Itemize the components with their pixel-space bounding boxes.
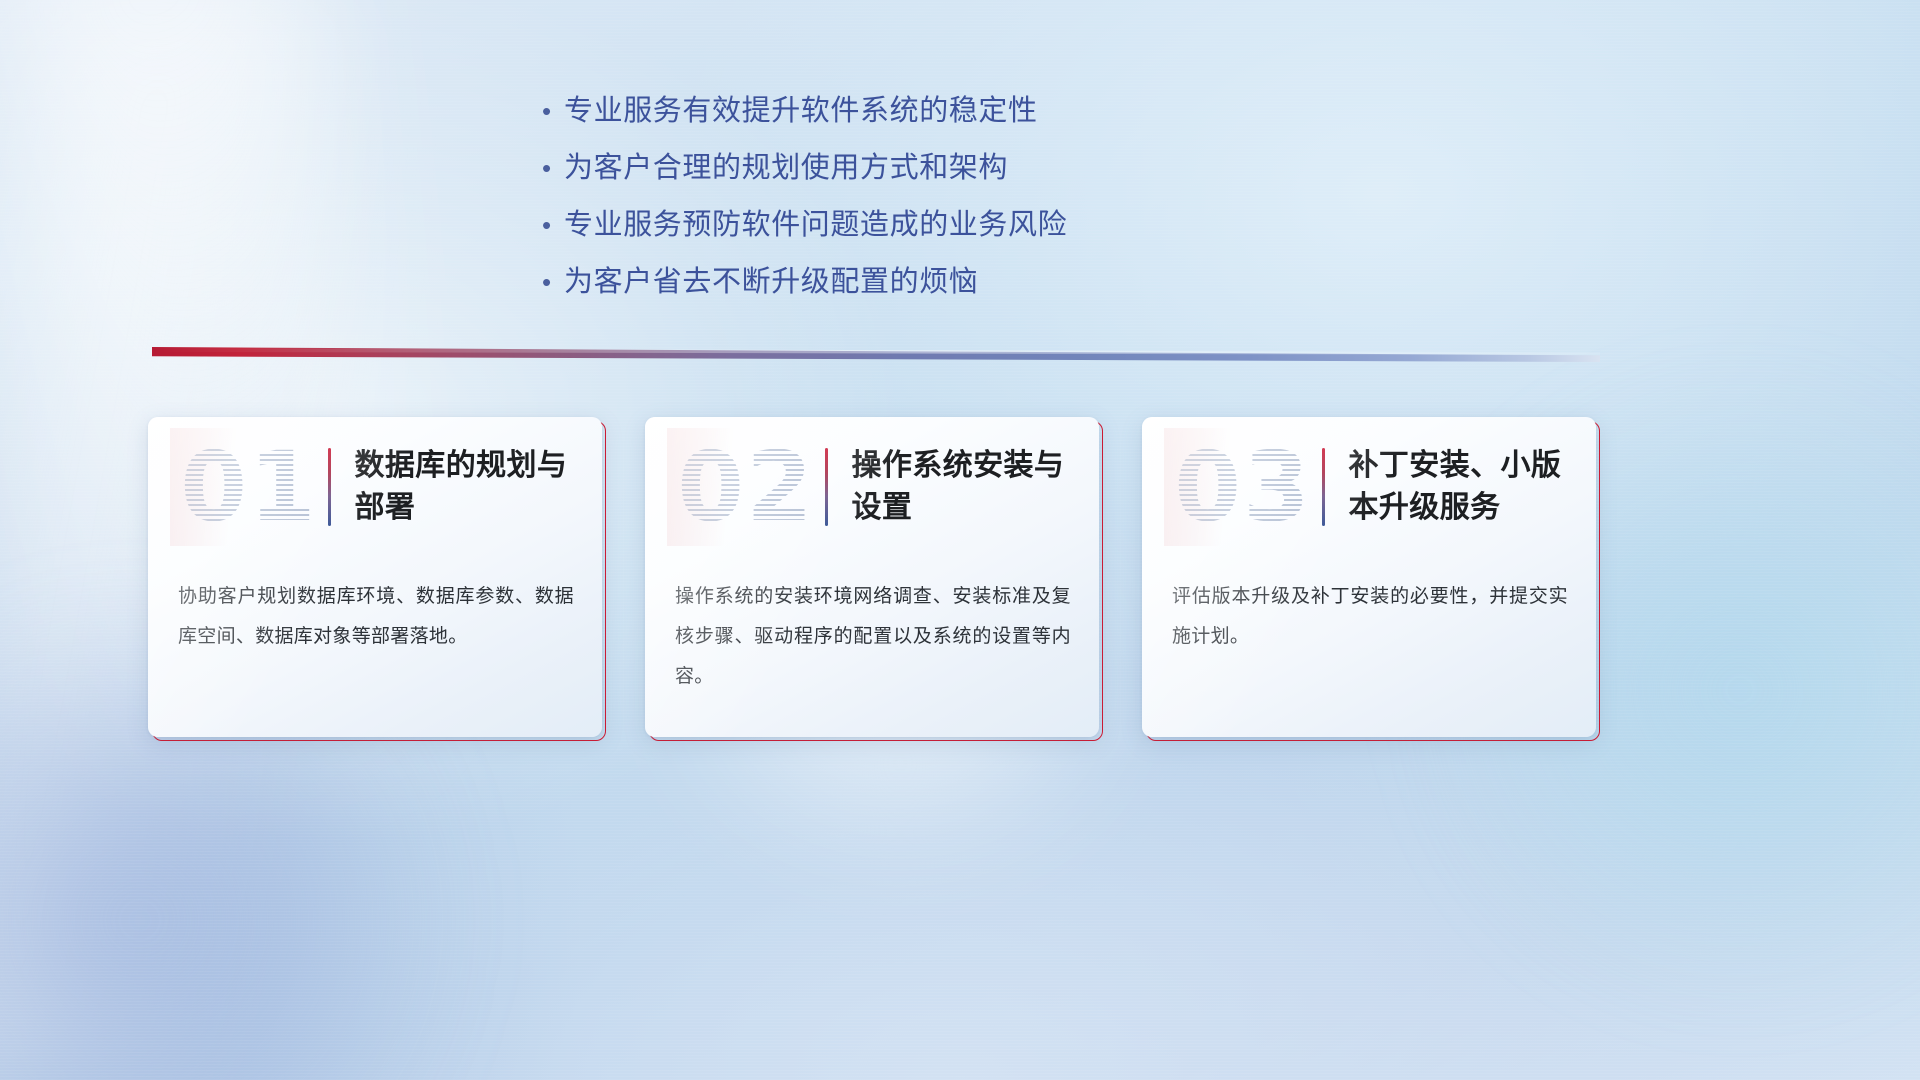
card-title: 操作系统安装与设置	[852, 445, 1100, 529]
bullet-label: 为客户省去不断升级配置的烦恼	[564, 263, 978, 301]
list-item: • 为客户省去不断升级配置的烦恼	[536, 263, 1176, 301]
card-description: 操作系统的安装环境网络调查、安装标准及复核步骤、驱动程序的配置以及系统的设置等内…	[675, 577, 1071, 697]
card-description: 评估版本升级及补丁安装的必要性，并提交实施计划。	[1172, 577, 1568, 657]
card-title: 数据库的规划与部署	[355, 445, 603, 529]
card-surface: 03 补丁安装、小版本升级服务 评估版本升级及补丁安装的必要性，并提交实施计划。	[1142, 417, 1596, 737]
card-description: 协助客户规划数据库环境、数据库参数、数据库空间、数据库对象等部署落地。	[178, 577, 574, 657]
bullet-dot-icon: •	[536, 263, 564, 301]
bullet-label: 专业服务有效提升软件系统的稳定性	[564, 92, 1038, 130]
card-number-label: 02	[677, 428, 815, 546]
card-number-watermark: 03	[1164, 428, 1322, 546]
service-card[interactable]: 02 操作系统安装与设置 操作系统的安装环境网络调查、安装标准及复核步骤、驱动程…	[649, 421, 1103, 741]
card-header: 02 操作系统安装与设置	[645, 417, 1099, 557]
bullet-dot-icon: •	[536, 92, 564, 130]
list-item: • 为客户合理的规划使用方式和架构	[536, 149, 1176, 187]
card-number-label: 01	[180, 428, 318, 546]
bullet-dot-icon: •	[536, 149, 564, 187]
card-title-rule	[328, 448, 331, 526]
service-card[interactable]: 01 数据库的规划与部署 协助客户规划数据库环境、数据库参数、数据库空间、数据库…	[152, 421, 606, 741]
card-number-watermark: 02	[667, 428, 825, 546]
service-card[interactable]: 03 补丁安装、小版本升级服务 评估版本升级及补丁安装的必要性，并提交实施计划。	[1146, 421, 1600, 741]
card-title: 补丁安装、小版本升级服务	[1349, 445, 1597, 529]
card-header: 03 补丁安装、小版本升级服务	[1142, 417, 1596, 557]
service-card-group: 01 数据库的规划与部署 协助客户规划数据库环境、数据库参数、数据库空间、数据库…	[152, 421, 1600, 741]
card-number-label: 03	[1174, 428, 1312, 546]
card-title-rule	[1322, 448, 1325, 526]
bullet-label: 专业服务预防软件问题造成的业务风险	[564, 206, 1067, 244]
card-surface: 02 操作系统安装与设置 操作系统的安装环境网络调查、安装标准及复核步骤、驱动程…	[645, 417, 1099, 737]
card-surface: 01 数据库的规划与部署 协助客户规划数据库环境、数据库参数、数据库空间、数据库…	[148, 417, 602, 737]
bullet-dot-icon: •	[536, 206, 564, 244]
card-title-rule	[825, 448, 828, 526]
card-header: 01 数据库的规划与部署	[148, 417, 602, 557]
section-divider	[152, 344, 1600, 366]
list-item: • 专业服务有效提升软件系统的稳定性	[536, 92, 1176, 130]
card-number-watermark: 01	[170, 428, 328, 546]
bullet-label: 为客户合理的规划使用方式和架构	[564, 149, 1008, 187]
benefits-bullet-list: • 专业服务有效提升软件系统的稳定性 • 为客户合理的规划使用方式和架构 • 专…	[536, 92, 1176, 320]
list-item: • 专业服务预防软件问题造成的业务风险	[536, 206, 1176, 244]
